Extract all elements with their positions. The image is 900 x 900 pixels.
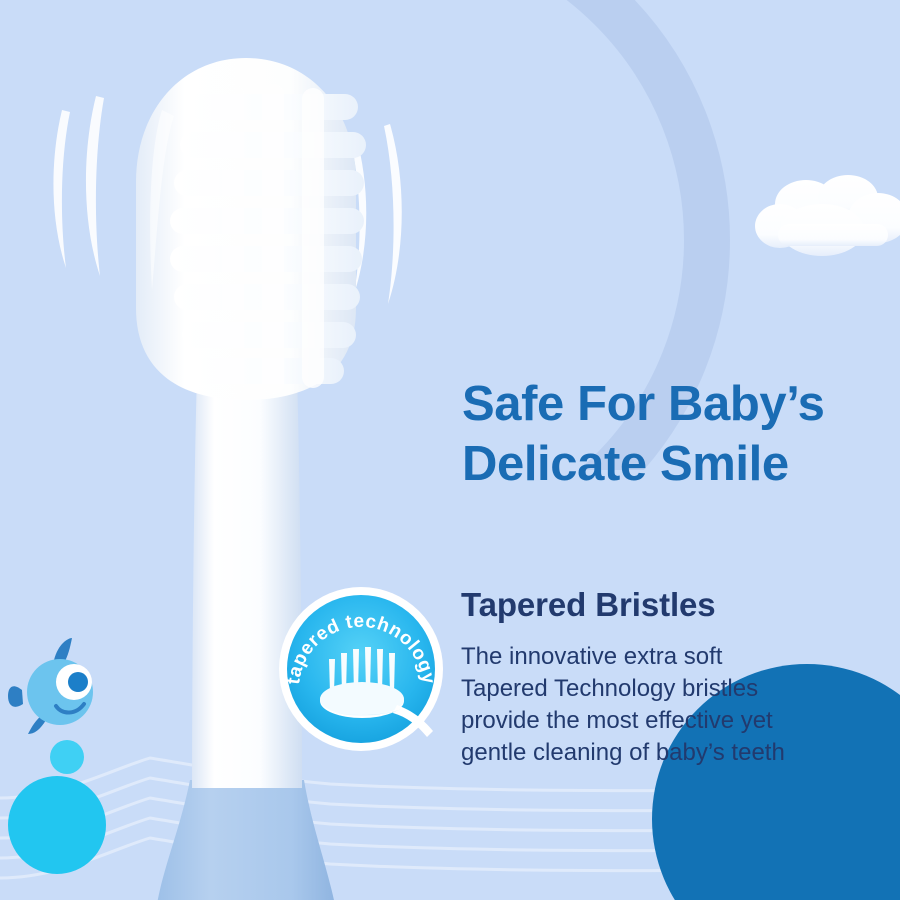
cartoon-fish-icon: [6, 636, 110, 740]
cloud-icon: [752, 168, 900, 276]
product-feature-poster: tapered technology Safe For Baby’s Delic…: [0, 0, 900, 900]
feature-description-line-4: gentle cleaning of baby’s teeth: [461, 737, 829, 769]
page-title: Safe For Baby’s Delicate Smile: [462, 374, 882, 494]
headline-line-2: Delicate Smile: [462, 434, 882, 494]
cyan-circle-large-icon: [8, 776, 106, 874]
tapered-technology-badge: tapered technology: [277, 585, 445, 753]
feature-title: Tapered Bristles: [461, 586, 716, 624]
headline-line-1: Safe For Baby’s: [462, 374, 882, 434]
feature-description: The innovative extra soft Tapered Techno…: [461, 641, 829, 769]
feature-description-line-3: provide the most effective yet: [461, 705, 829, 737]
feature-description-line-1: The innovative extra soft: [461, 641, 829, 673]
feature-description-line-2: Tapered Technology bristles: [461, 673, 829, 705]
cyan-circle-small-icon: [50, 740, 84, 774]
